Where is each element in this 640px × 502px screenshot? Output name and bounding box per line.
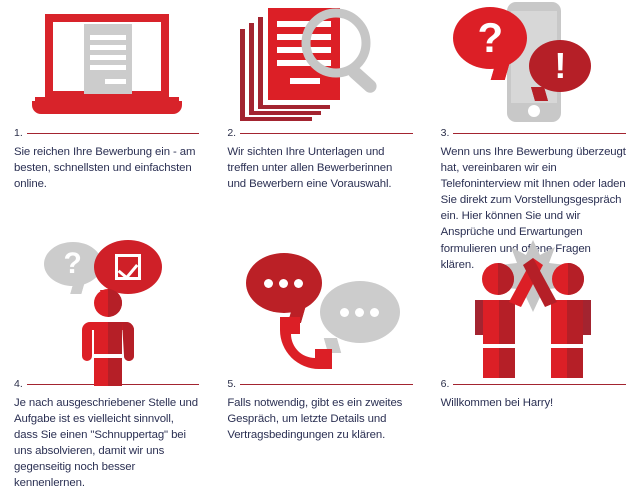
step-1-rule-row: 1. <box>14 128 199 139</box>
bubble-dot <box>370 308 379 317</box>
bubble-dot <box>355 308 364 317</box>
step-6-description: Willkommen bei Harry! <box>441 395 626 411</box>
bubble-dot <box>294 279 303 288</box>
step-5-rule-row: 5. <box>227 379 412 390</box>
step-1-number: 1. <box>14 128 23 139</box>
step-2-icon-area <box>213 0 426 128</box>
step-3-icon-area: ? ! <box>427 0 640 128</box>
step-2-text-area: 2. Wir sichten Ihre Unterlagen und treff… <box>213 128 426 192</box>
step-4-icon-area: ? <box>0 251 213 379</box>
step-6-icon-area <box>427 251 640 379</box>
laptop-base <box>32 101 182 114</box>
phone-handset-icon <box>272 313 338 379</box>
bubble-dot <box>279 279 288 288</box>
person-figure-icon <box>74 288 142 388</box>
step-6-number: 6. <box>441 379 450 390</box>
exclamation-mark-glyph: ! <box>554 45 566 87</box>
step-4-number: 4. <box>14 379 23 390</box>
step-5-rule <box>240 384 413 385</box>
step-5-description: Falls notwendig, gibt es ein zweites Ges… <box>227 395 412 444</box>
bubble-dot <box>264 279 273 288</box>
question-bubble-gray-icon: ? <box>44 242 102 286</box>
step-3-number: 3. <box>441 128 450 139</box>
checkmark-icon <box>115 254 141 280</box>
step-2-rule <box>240 133 413 134</box>
magnifier-icon <box>298 5 390 101</box>
checkmark-bubble-icon <box>94 240 162 294</box>
step-2-number: 2. <box>227 128 236 139</box>
step-1-text-area: 1. Sie reichen Ihre Bewerbung ein - am b… <box>0 128 213 192</box>
chat-bubble-red-icon <box>246 253 322 313</box>
step-4-description: Je nach ausgeschriebener Stelle und Aufg… <box>14 395 199 492</box>
step-1-icon-area <box>0 0 213 128</box>
person-question-checkmark-bubbles-icon: ? <box>32 240 182 390</box>
step-5-icon-area <box>213 251 426 379</box>
process-step-3: ? ! 3. Wenn uns Ihre Bewerbung überzeugt… <box>427 0 640 251</box>
bubble-dot <box>340 308 349 317</box>
chat-bubbles-phone-handset-icon <box>240 251 400 379</box>
smartphone-question-exclamation-bubbles-icon: ? ! <box>453 2 613 126</box>
question-mark-glyph: ? <box>477 14 503 62</box>
high-five-star-icon <box>453 240 613 390</box>
process-step-4: ? 4. <box>0 251 213 502</box>
question-bubble-icon: ? <box>453 7 527 69</box>
step-3-rule <box>453 133 626 134</box>
step-2-rule-row: 2. <box>227 128 412 139</box>
step-5-number: 5. <box>227 379 236 390</box>
process-step-2: 2. Wir sichten Ihre Unterlagen und treff… <box>213 0 426 251</box>
step-3-rule-row: 3. <box>441 128 626 139</box>
step-2-description: Wir sichten Ihre Unterlagen und treffen … <box>227 144 412 193</box>
question-mark-gray-glyph: ? <box>63 247 81 281</box>
process-step-1: 1. Sie reichen Ihre Bewerbung ein - am b… <box>0 0 213 251</box>
document-icon <box>84 24 132 94</box>
step-1-description: Sie reichen Ihre Bewerbung ein - am best… <box>14 144 199 193</box>
document-stack-magnifier-icon <box>240 5 400 123</box>
laptop-document-icon <box>32 10 182 118</box>
step-4-text-area: 4. Je nach ausgeschriebener Stelle und A… <box>0 379 213 492</box>
process-steps-grid: 1. Sie reichen Ihre Bewerbung ein - am b… <box>0 0 640 502</box>
step-1-rule <box>27 133 200 134</box>
two-people-high-five-figure <box>453 240 613 382</box>
process-step-5: 5. Falls notwendig, gibt es ein zweites … <box>213 251 426 502</box>
process-step-6: 6. Willkommen bei Harry! <box>427 251 640 502</box>
phone-home-button <box>528 105 540 117</box>
step-5-text-area: 5. Falls notwendig, gibt es ein zweites … <box>213 379 426 443</box>
exclamation-bubble-icon: ! <box>529 40 591 92</box>
